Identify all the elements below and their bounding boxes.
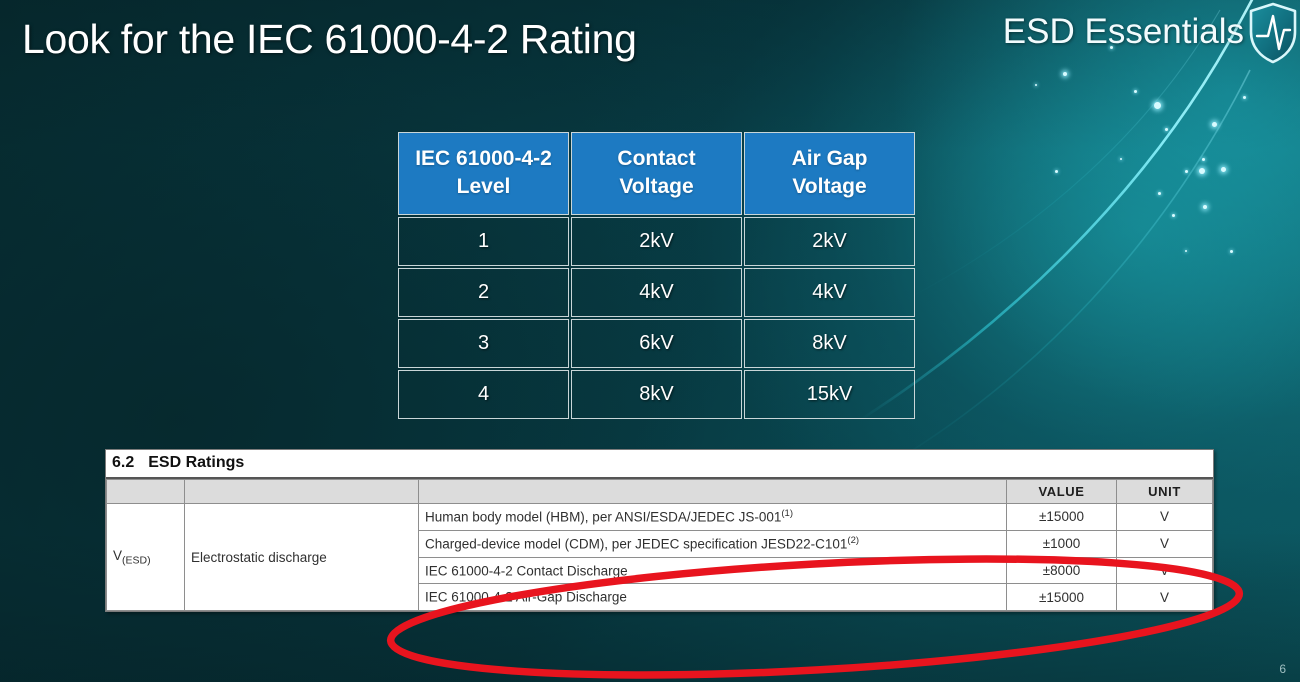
glow-particle bbox=[1063, 72, 1067, 76]
page-number: 6 bbox=[1279, 662, 1286, 676]
header-blank-symbol bbox=[107, 480, 185, 504]
cell-value: ±8000 bbox=[1007, 557, 1117, 584]
header-blank-description bbox=[419, 480, 1007, 504]
glow-particle bbox=[1243, 96, 1246, 99]
section-title-text: ESD Ratings bbox=[148, 454, 244, 471]
cell-airgap: 15kV bbox=[744, 370, 915, 419]
glow-particle bbox=[1199, 168, 1205, 174]
table-row: 2 4kV 4kV bbox=[398, 268, 915, 317]
glow-particle bbox=[1035, 84, 1037, 86]
column-header-level: IEC 61000-4-2 Level bbox=[398, 132, 569, 215]
glow-particle bbox=[1185, 250, 1187, 252]
glow-particle bbox=[1165, 128, 1168, 131]
glow-particle bbox=[1212, 122, 1217, 127]
cell-value: ±15000 bbox=[1007, 584, 1117, 611]
header-unit: UNIT bbox=[1117, 480, 1213, 504]
iec-level-table: IEC 61000-4-2 Level Contact Voltage Air … bbox=[396, 130, 917, 421]
header-value: VALUE bbox=[1007, 480, 1117, 504]
slide-canvas: Look for the IEC 61000-4-2 Rating ESD Es… bbox=[0, 0, 1300, 682]
cell-airgap: 4kV bbox=[744, 268, 915, 317]
section-number: 6.2 bbox=[112, 454, 134, 471]
column-header-contact-voltage: Contact Voltage bbox=[571, 132, 742, 215]
cell-description: IEC 61000-4-2 Contact Discharge bbox=[419, 557, 1007, 584]
cell-unit: V bbox=[1117, 504, 1213, 531]
glow-particle bbox=[1154, 102, 1161, 109]
cell-airgap: 2kV bbox=[744, 217, 915, 266]
cell-description: IEC 61000-4-2 Air-Gap Discharge bbox=[419, 584, 1007, 611]
cell-airgap: 8kV bbox=[744, 319, 915, 368]
header-blank-parameter bbox=[185, 480, 419, 504]
cell-contact: 6kV bbox=[571, 319, 742, 368]
brand-name: ESD Essentials bbox=[1003, 12, 1244, 52]
table-header-row: IEC 61000-4-2 Level Contact Voltage Air … bbox=[398, 132, 915, 215]
glow-particle bbox=[1202, 158, 1205, 161]
cell-level: 1 bbox=[398, 217, 569, 266]
table-row: V(ESD) Electrostatic discharge Human bod… bbox=[107, 504, 1213, 531]
glow-particle bbox=[1120, 158, 1122, 160]
glow-particle bbox=[1134, 90, 1137, 93]
cell-unit: V bbox=[1117, 557, 1213, 584]
table-row: 1 2kV 2kV bbox=[398, 217, 915, 266]
table-row: 3 6kV 8kV bbox=[398, 319, 915, 368]
cell-unit: V bbox=[1117, 584, 1213, 611]
cell-contact: 8kV bbox=[571, 370, 742, 419]
cell-description: Charged-device model (CDM), per JEDEC sp… bbox=[419, 530, 1007, 557]
glow-particle bbox=[1185, 170, 1188, 173]
cell-contact: 2kV bbox=[571, 217, 742, 266]
slide-title: Look for the IEC 61000-4-2 Rating bbox=[22, 16, 637, 63]
cell-description: Human body model (HBM), per ANSI/ESDA/JE… bbox=[419, 504, 1007, 531]
cell-value: ±1000 bbox=[1007, 530, 1117, 557]
glow-particle bbox=[1221, 167, 1226, 172]
cell-level: 2 bbox=[398, 268, 569, 317]
table-row: 4 8kV 15kV bbox=[398, 370, 915, 419]
glow-particle bbox=[1055, 170, 1058, 173]
cell-unit: V bbox=[1117, 530, 1213, 557]
glow-particle bbox=[1230, 250, 1233, 253]
cell-level: 3 bbox=[398, 319, 569, 368]
shield-pulse-icon bbox=[1248, 2, 1298, 64]
datasheet-excerpt: 6.2ESD Ratings VALUE UNIT bbox=[105, 449, 1214, 612]
glow-particle bbox=[1172, 214, 1175, 217]
column-header-air-gap-voltage: Air Gap Voltage bbox=[744, 132, 915, 215]
cell-symbol-vesd: V(ESD) bbox=[107, 504, 185, 611]
brand-lockup: ESD Essentials bbox=[1003, 12, 1244, 52]
glow-particle bbox=[1203, 205, 1207, 209]
glow-particle bbox=[1158, 192, 1161, 195]
cell-parameter: Electrostatic discharge bbox=[185, 504, 419, 611]
datasheet-header-row: VALUE UNIT bbox=[107, 480, 1213, 504]
datasheet-section-title: 6.2ESD Ratings bbox=[106, 450, 1213, 479]
cell-level: 4 bbox=[398, 370, 569, 419]
esd-ratings-table: VALUE UNIT V(ESD) Electrostatic discharg… bbox=[106, 479, 1213, 611]
cell-value: ±15000 bbox=[1007, 504, 1117, 531]
cell-contact: 4kV bbox=[571, 268, 742, 317]
